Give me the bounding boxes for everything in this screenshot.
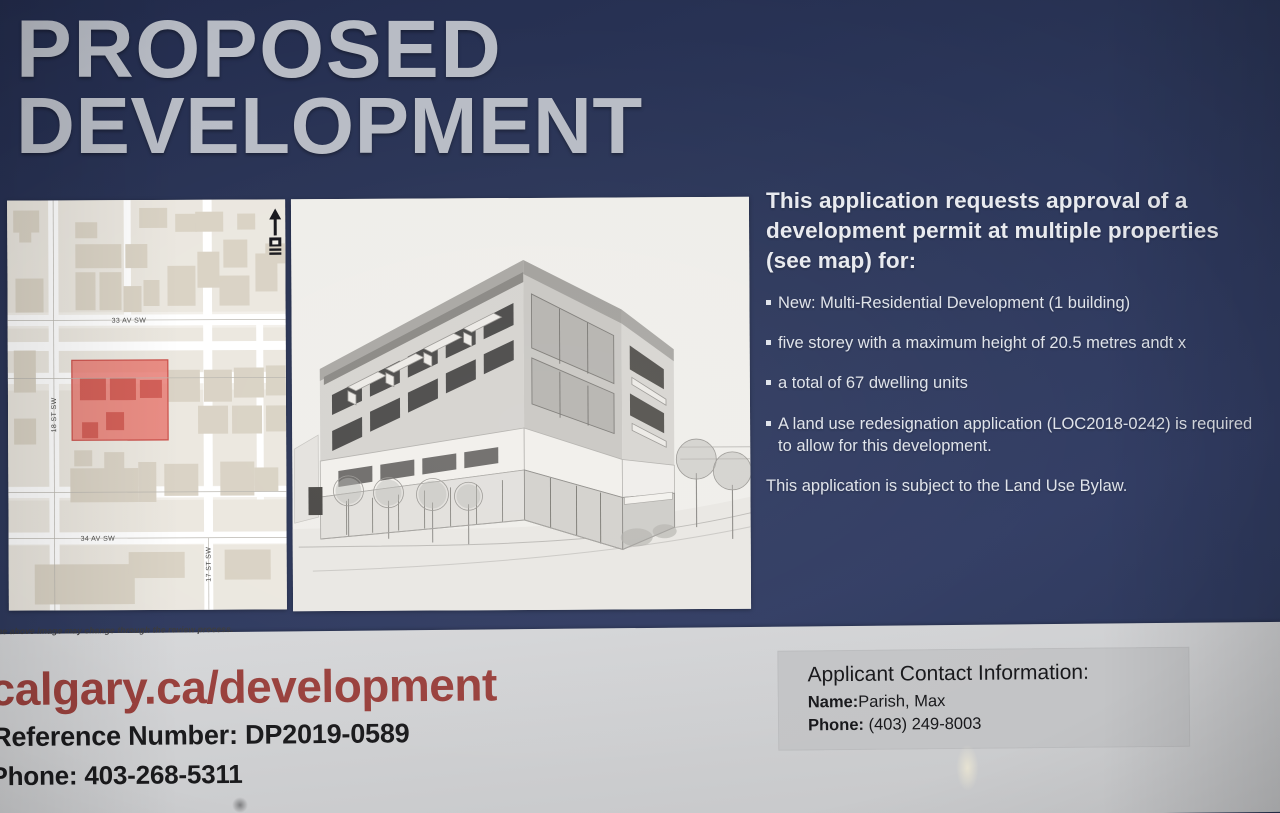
square-bullet-icon bbox=[766, 380, 771, 385]
applicant-name-label: Name: bbox=[808, 693, 859, 711]
land-use-bylaw-note: This application is subject to the Land … bbox=[766, 475, 1266, 497]
applicant-contact-box: Applicant Contact Information: Name:Pari… bbox=[777, 647, 1190, 751]
reference-number-value: DP2019-0589 bbox=[245, 718, 410, 750]
applicant-phone-label: Phone: bbox=[808, 716, 864, 735]
detail-bullet-storey-height: five storey with a maximum height of 20.… bbox=[766, 332, 1266, 354]
city-phone-line: Phone: 403-268-5311 bbox=[0, 759, 243, 792]
city-phone-value: 403-268-5311 bbox=[84, 759, 242, 791]
sign-footer: he above image may change through the re… bbox=[0, 622, 1280, 813]
application-details: This application requests approval of a … bbox=[766, 186, 1266, 497]
applicant-phone-value: (403) 249-8003 bbox=[868, 715, 981, 734]
detail-bullet-text: New: Multi-Residential Development (1 bu… bbox=[778, 292, 1266, 314]
map-label-17-st-sw: 17 ST SW bbox=[206, 547, 213, 582]
image-disclaimer: he above image may change through the re… bbox=[0, 624, 233, 636]
map-label-18-st-sw: 18 ST SW bbox=[51, 397, 58, 432]
applicant-name-row: Name:Parish, Max bbox=[808, 692, 946, 712]
reference-number-label: Reference Number: bbox=[0, 720, 238, 752]
map-label-33-av-sw: 33 AV SW bbox=[112, 318, 147, 325]
detail-bullet-dwelling-units: a total of 67 dwelling units bbox=[766, 372, 1266, 394]
detail-bullet-new-development: New: Multi-Residential Development (1 bu… bbox=[766, 292, 1266, 314]
square-bullet-icon bbox=[766, 421, 771, 426]
calgary-development-url[interactable]: calgary.ca/development bbox=[0, 657, 497, 716]
site-location-map: 33 AV SW 34 AV SW 18 ST SW 17 ST SW bbox=[7, 199, 287, 610]
map-graphic: 33 AV SW 34 AV SW 18 ST SW 17 ST SW bbox=[7, 199, 287, 610]
development-notice-sign: PROPOSED DEVELOPMENT bbox=[0, 0, 1280, 813]
sign-headline: PROPOSED DEVELOPMENT bbox=[16, 12, 816, 163]
applicant-name-value: Parish, Max bbox=[858, 692, 945, 711]
map-label-34-av-sw: 34 AV SW bbox=[81, 536, 116, 543]
application-heading: This application requests approval of a … bbox=[766, 186, 1236, 276]
building-rendering-graphic bbox=[291, 197, 751, 611]
detail-bullet-land-use-redesignation: A land use redesignation application (LO… bbox=[766, 413, 1266, 458]
reference-number-line: Reference Number: DP2019-0589 bbox=[0, 718, 410, 753]
headline-line-proposed: PROPOSED bbox=[16, 12, 832, 87]
square-bullet-icon bbox=[766, 300, 771, 305]
building-rendering bbox=[291, 197, 751, 611]
square-bullet-icon bbox=[766, 340, 771, 345]
detail-bullet-text: A land use redesignation application (LO… bbox=[778, 413, 1266, 458]
city-phone-label: Phone: bbox=[0, 760, 78, 791]
applicant-contact-title: Applicant Contact Information: bbox=[807, 661, 1089, 688]
footer-glare bbox=[956, 745, 978, 791]
applicant-phone-row: Phone: (403) 249-8003 bbox=[808, 715, 982, 736]
headline-line-development: DEVELOPMENT bbox=[16, 89, 832, 163]
detail-bullet-text: a total of 67 dwelling units bbox=[778, 372, 1266, 394]
detail-bullet-text: five storey with a maximum height of 20.… bbox=[778, 332, 1266, 354]
